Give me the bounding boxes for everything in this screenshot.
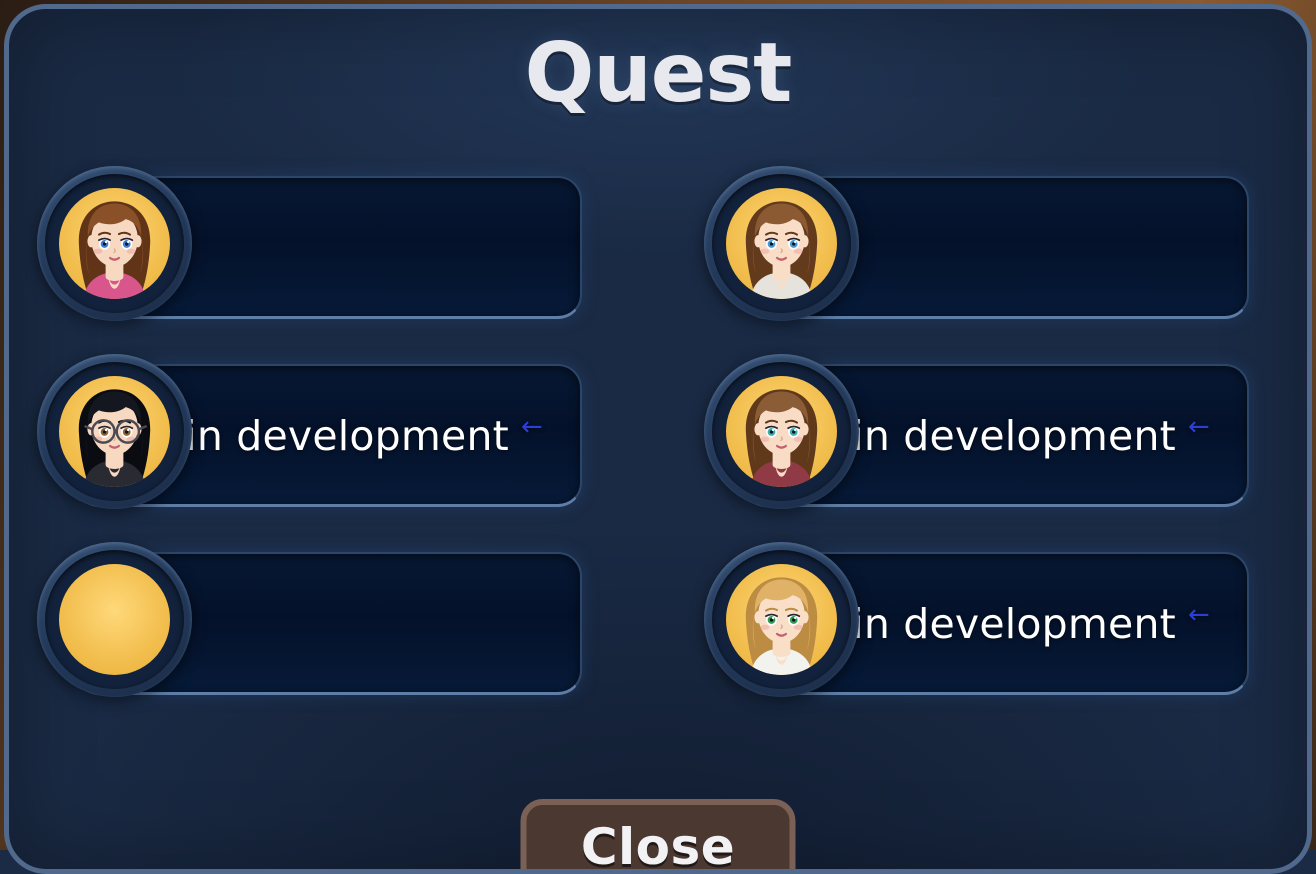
- avatar-portrait: [59, 188, 170, 299]
- avatar-black-hair-glasses[interactable]: [37, 354, 192, 509]
- quest-status-label: - in development: [824, 412, 1176, 460]
- avatar-ring: [712, 362, 851, 501]
- avatar-empty-placeholder[interactable]: [37, 542, 192, 697]
- avatar-portrait: [726, 564, 837, 675]
- arrow-left-icon: ←: [1188, 602, 1210, 628]
- quest-status-text: - in development←: [157, 412, 543, 460]
- avatar-short-brown-red-top[interactable]: [704, 354, 859, 509]
- avatar-portrait: [726, 188, 837, 299]
- avatar-blonde-white-shirt[interactable]: [704, 542, 859, 697]
- avatar-ring: [712, 174, 851, 313]
- avatar-portrait: [726, 376, 837, 487]
- page-title: Quest: [9, 31, 1307, 117]
- avatar-brunette-pink-top[interactable]: [37, 166, 192, 321]
- quest-row[interactable]: - in development←: [704, 542, 1249, 705]
- arrow-left-icon: ←: [1188, 414, 1210, 440]
- quest-dialog-panel: Quest: [4, 4, 1312, 874]
- avatar-ring: [45, 174, 184, 313]
- quest-grid: - in development←: [37, 166, 1249, 705]
- quest-row[interactable]: [704, 166, 1249, 329]
- avatar-portrait: [59, 564, 170, 675]
- quest-status-text: - in development←: [824, 412, 1210, 460]
- quest-status-label: - in development: [824, 600, 1176, 648]
- avatar-bob-brown-white-strap[interactable]: [704, 166, 859, 321]
- avatar-portrait: [59, 376, 170, 487]
- close-button[interactable]: Close: [521, 799, 796, 874]
- quest-row[interactable]: [37, 166, 582, 329]
- quest-status-label: - in development: [157, 412, 509, 460]
- avatar-ring: [45, 362, 184, 501]
- quest-row[interactable]: - in development←: [37, 354, 582, 517]
- quest-row[interactable]: [37, 542, 582, 705]
- arrow-left-icon: ←: [521, 414, 543, 440]
- avatar-ring: [45, 550, 184, 689]
- avatar-ring: [712, 550, 851, 689]
- quest-row[interactable]: - in development←: [704, 354, 1249, 517]
- quest-status-text: - in development←: [824, 600, 1210, 648]
